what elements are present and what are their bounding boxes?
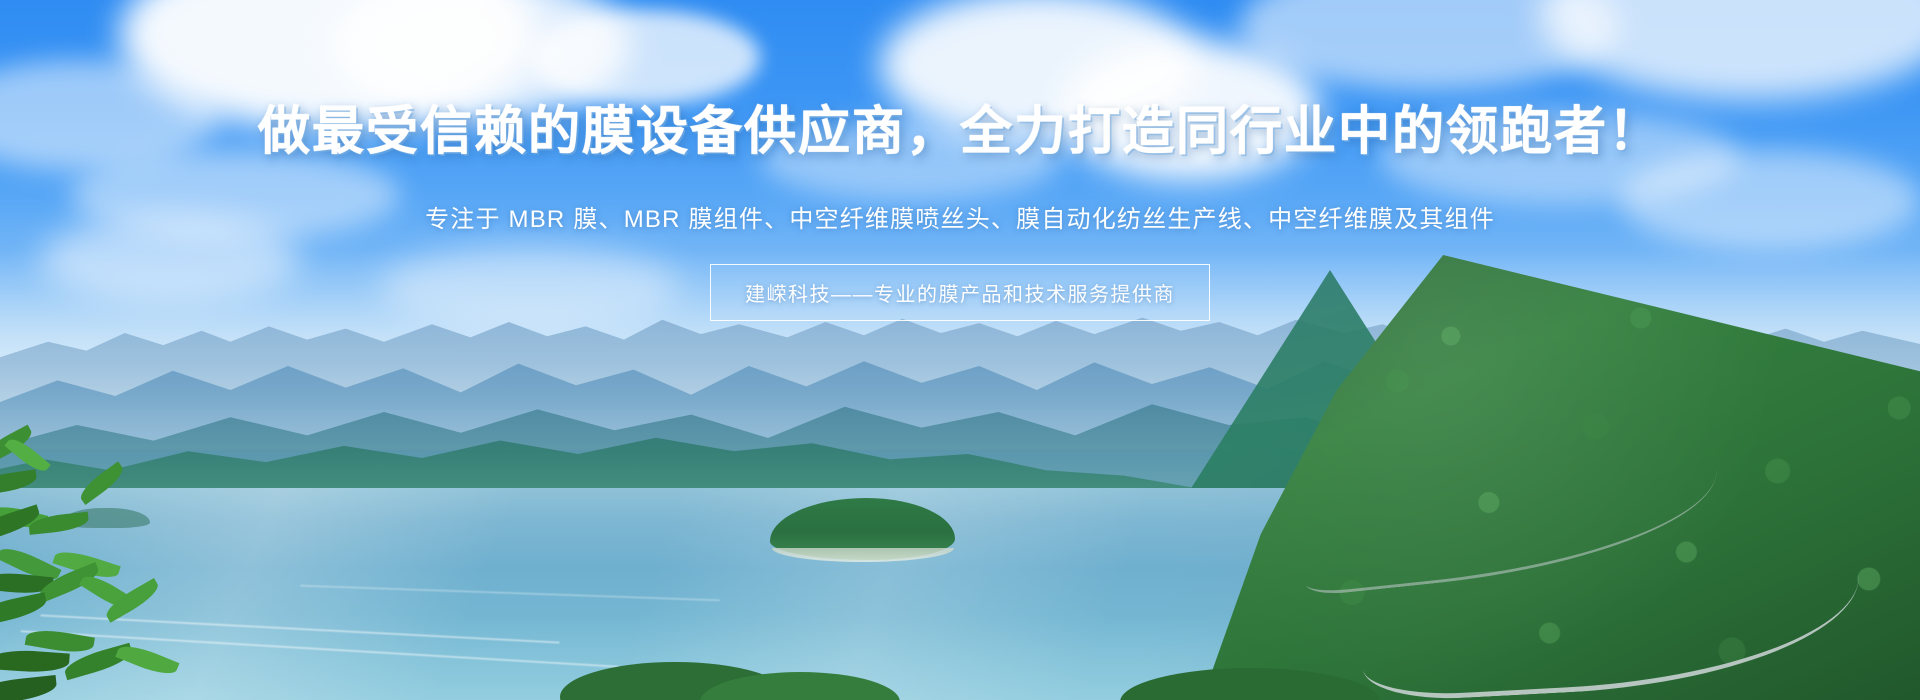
cloud-icon bbox=[530, 10, 760, 105]
leaf bbox=[115, 640, 179, 680]
leaf bbox=[0, 592, 48, 627]
foreground-tree bbox=[0, 430, 270, 700]
hero-banner: 做最受信赖的膜设备供应商，全力打造同行业中的领跑者！ 专注于 MBR 膜、MBR… bbox=[0, 0, 1920, 700]
leaf bbox=[0, 648, 70, 675]
leaf bbox=[0, 675, 58, 700]
leaf bbox=[0, 469, 38, 495]
leaf bbox=[76, 461, 127, 505]
cloud-icon bbox=[760, 120, 1060, 200]
cloud-icon bbox=[1620, 150, 1920, 250]
leaf bbox=[40, 696, 117, 700]
